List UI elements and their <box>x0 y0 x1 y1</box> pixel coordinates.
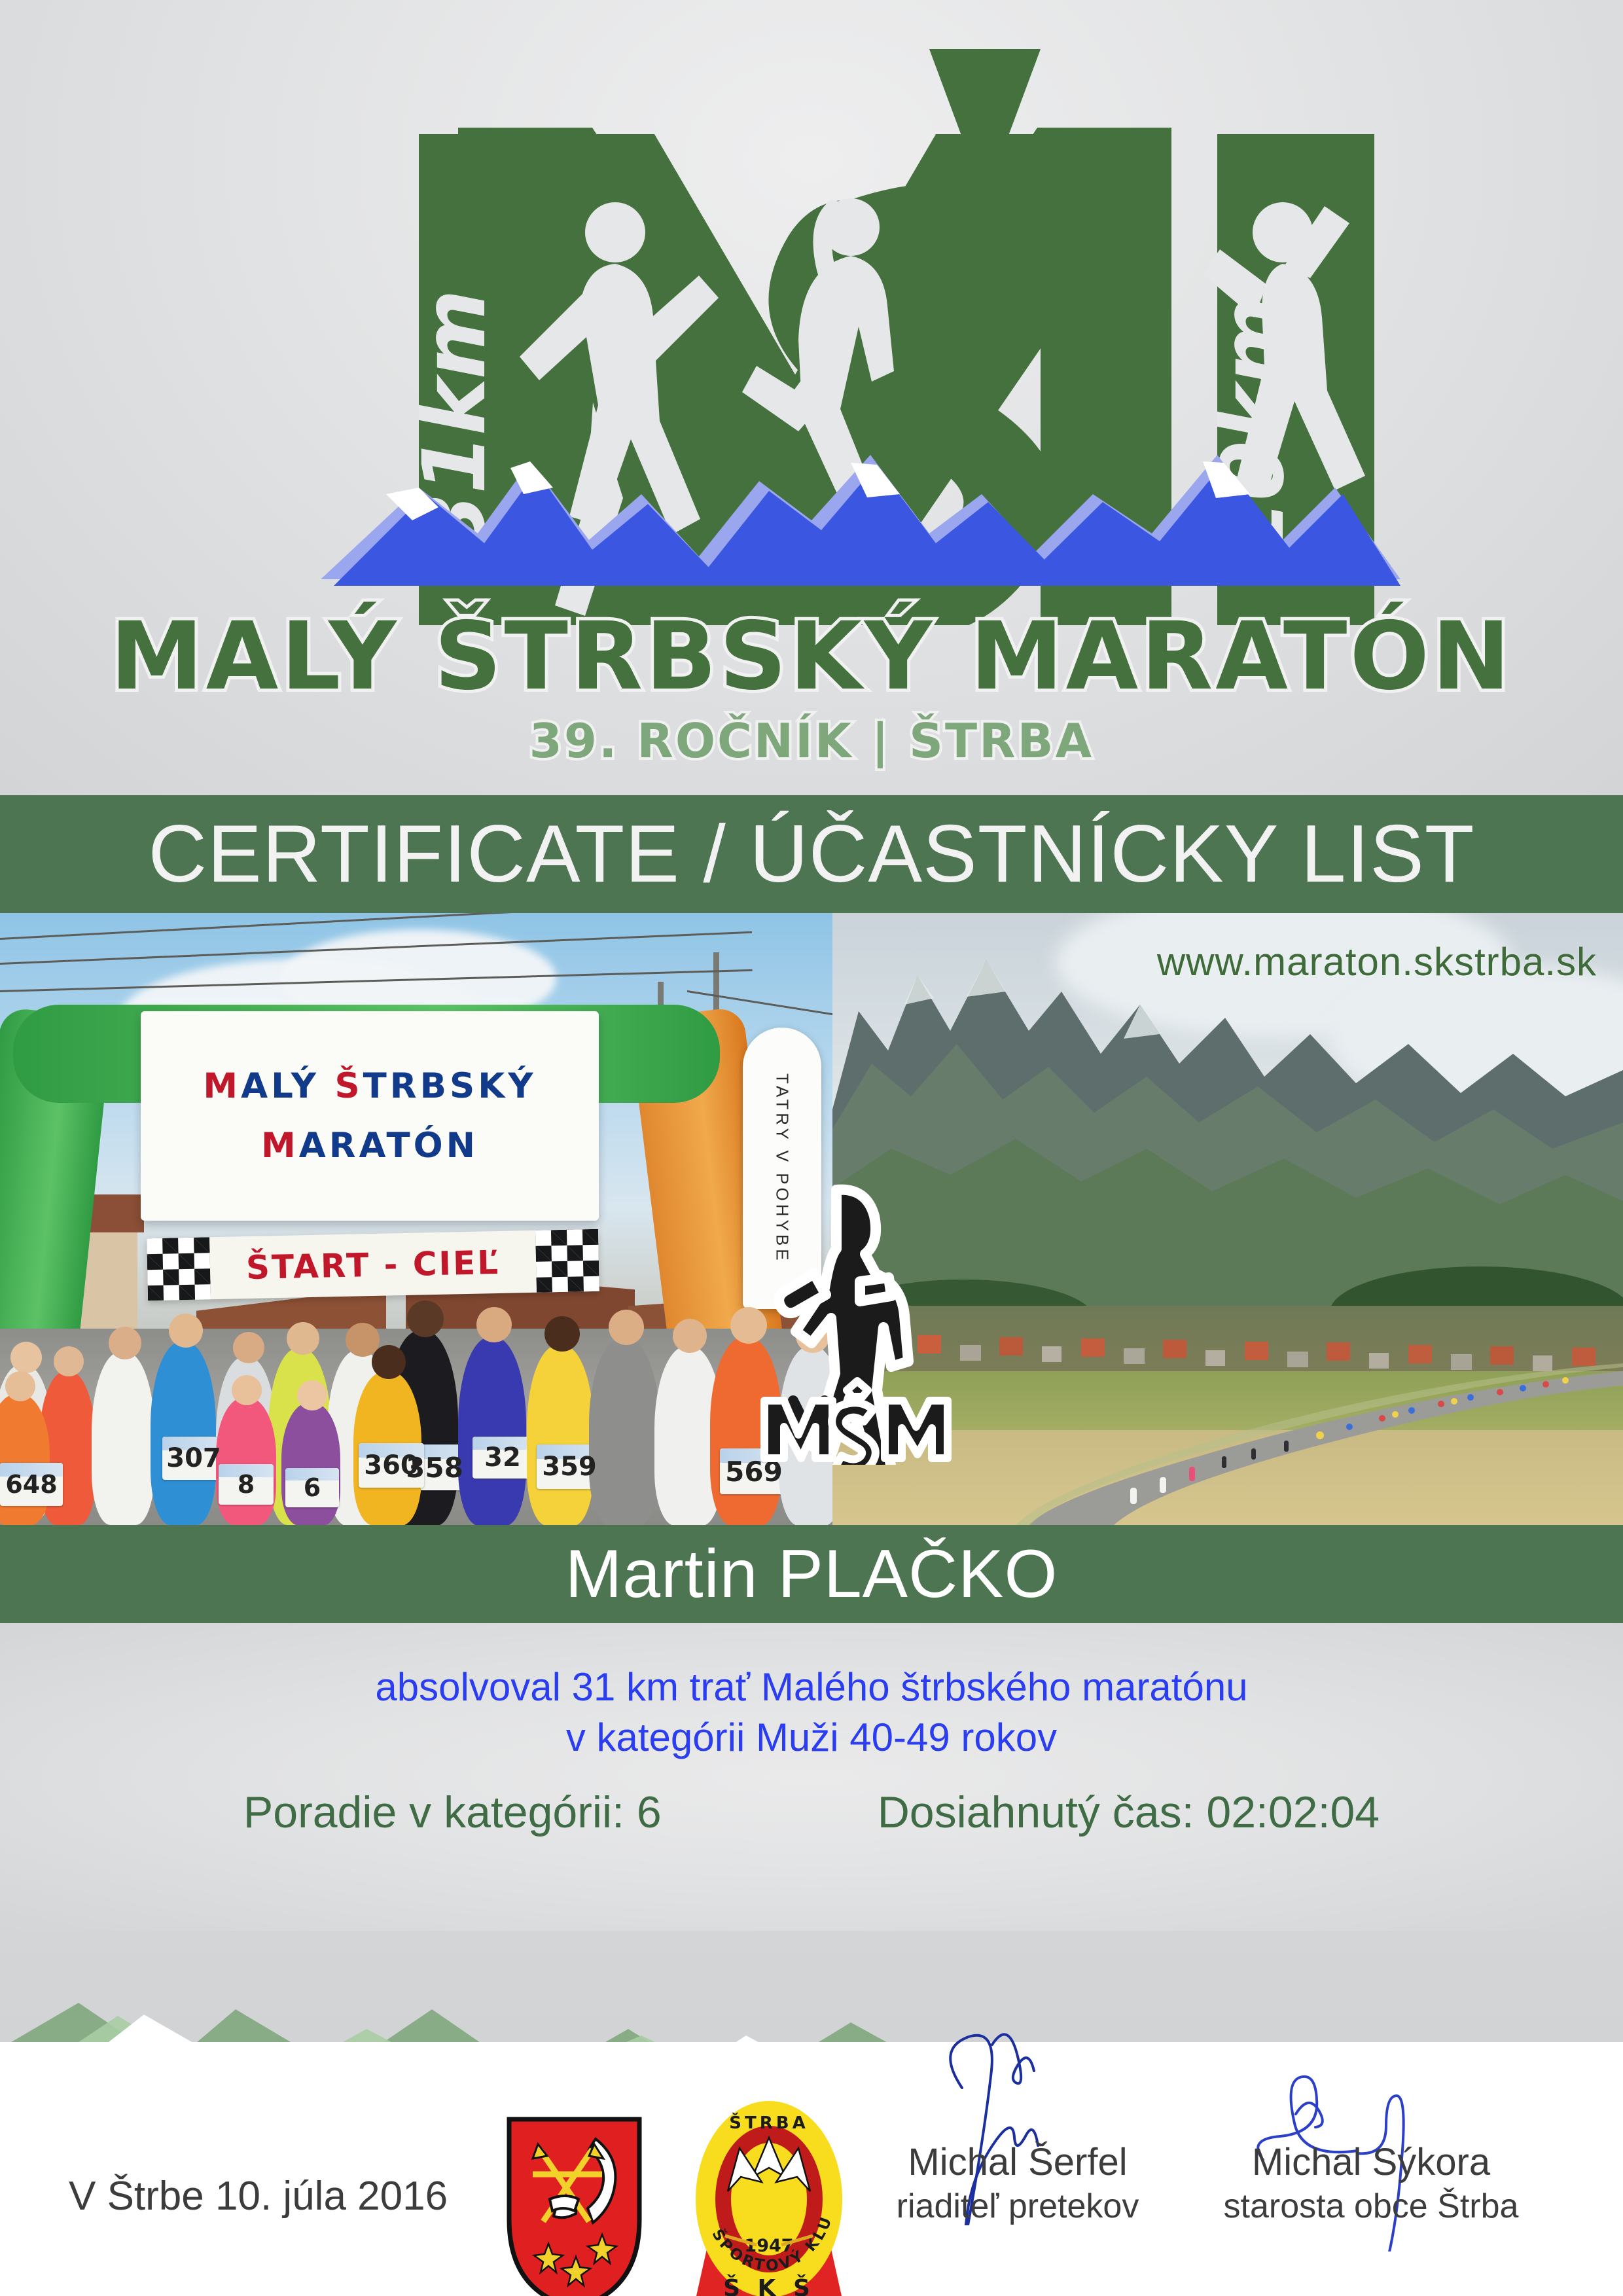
sks-club-badge: ŠTRBA 1947 ŠPORTOVÝ KLUB Š K Š <box>694 2100 844 2296</box>
issue-date: V Štrbe 10. júla 2016 <box>69 2173 448 2219</box>
category-rank: Poradie v kategórii: 6 <box>243 1787 662 1838</box>
signature-block-race-director: Michal Šerfel riaditeľ pretekov <box>864 2140 1171 2226</box>
bib-number: 648 <box>0 1463 63 1506</box>
signature-role: riaditeľ pretekov <box>864 2187 1171 2226</box>
photo-race-start: MALÝ ŠTRBSKÝ MARATÓN ŠTART - CIEĽ TATRY … <box>0 913 832 1525</box>
checker-pattern <box>147 1237 211 1300</box>
checker-pattern <box>535 1229 599 1293</box>
badge-top-text: ŠTRBA <box>729 2112 808 2133</box>
badge-bottom-text: Š K Š <box>723 2274 815 2296</box>
msm-runner-emblem <box>738 1170 961 1465</box>
signature-role: starosta obce Štrba <box>1217 2187 1525 2226</box>
certificate-title: CERTIFICATE / ÚČASTNÍCKY LIST <box>148 808 1474 901</box>
signature-name: Michal Sýkora <box>1217 2140 1525 2184</box>
start-finish-text: ŠTART - CIEĽ <box>245 1243 500 1286</box>
description-block: absolvoval 31 km trať Malého štrbského m… <box>0 1662 1623 1763</box>
badge-year: 1947 <box>744 2236 793 2256</box>
certificate-page: 31km 10km MALÝ ŠTRBSKÝ <box>0 0 1623 2296</box>
msm-logo-graphic: 31km 10km <box>223 36 1400 625</box>
participant-name: Martin PLAČKO <box>565 1535 1058 1613</box>
obec-strba-coat-of-arms <box>504 2115 645 2296</box>
bib-number: 8 <box>219 1464 274 1505</box>
participant-name-band: Martin PLAČKO <box>0 1525 1623 1623</box>
header-logo-area: 31km 10km MALÝ ŠTRBSKÝ <box>0 0 1623 795</box>
description-line-2: v kategórii Muži 40-49 rokov <box>0 1713 1623 1763</box>
arch-banner: MALÝ ŠTRBSKÝ MARATÓN <box>141 1011 599 1221</box>
bib-number: 32 <box>473 1437 533 1479</box>
event-title: MALÝ ŠTRBSKÝ MARATÓN <box>0 609 1623 704</box>
footer: V Štrbe 10. júla 2016 Obec Štrba <box>0 2042 1623 2296</box>
signature-name: Michal Šerfel <box>864 2140 1171 2184</box>
signature-block-mayor: Michal Sýkora starosta obce Štrba <box>1217 2140 1525 2226</box>
arch-text-line1: MALÝ ŠTRBSKÝ <box>203 1066 536 1106</box>
certificate-title-band: CERTIFICATE / ÚČASTNÍCKY LIST <box>0 795 1623 913</box>
website-url: www.maraton.skstrba.sk <box>1157 939 1597 984</box>
arch-text-line2: MARATÓN <box>261 1126 478 1166</box>
results-block: Poradie v kategórii: 6 Dosiahnutý čas: 0… <box>0 1787 1623 1838</box>
event-title-block: MALÝ ŠTRBSKÝ MARATÓN 39. ROČNÍK | ŠTRBA <box>0 609 1623 768</box>
participant-info-area: absolvoval 31 km trať Malého štrbského m… <box>0 1623 1623 1931</box>
start-finish-banner: ŠTART - CIEĽ <box>147 1229 599 1300</box>
finish-time: Dosiahnutý čas: 02:02:04 <box>878 1787 1380 1838</box>
bib-number: 6 <box>285 1468 339 1507</box>
event-edition: 39. ROČNÍK | ŠTRBA <box>0 713 1623 768</box>
description-line-1: absolvoval 31 km trať Malého štrbského m… <box>0 1662 1623 1713</box>
